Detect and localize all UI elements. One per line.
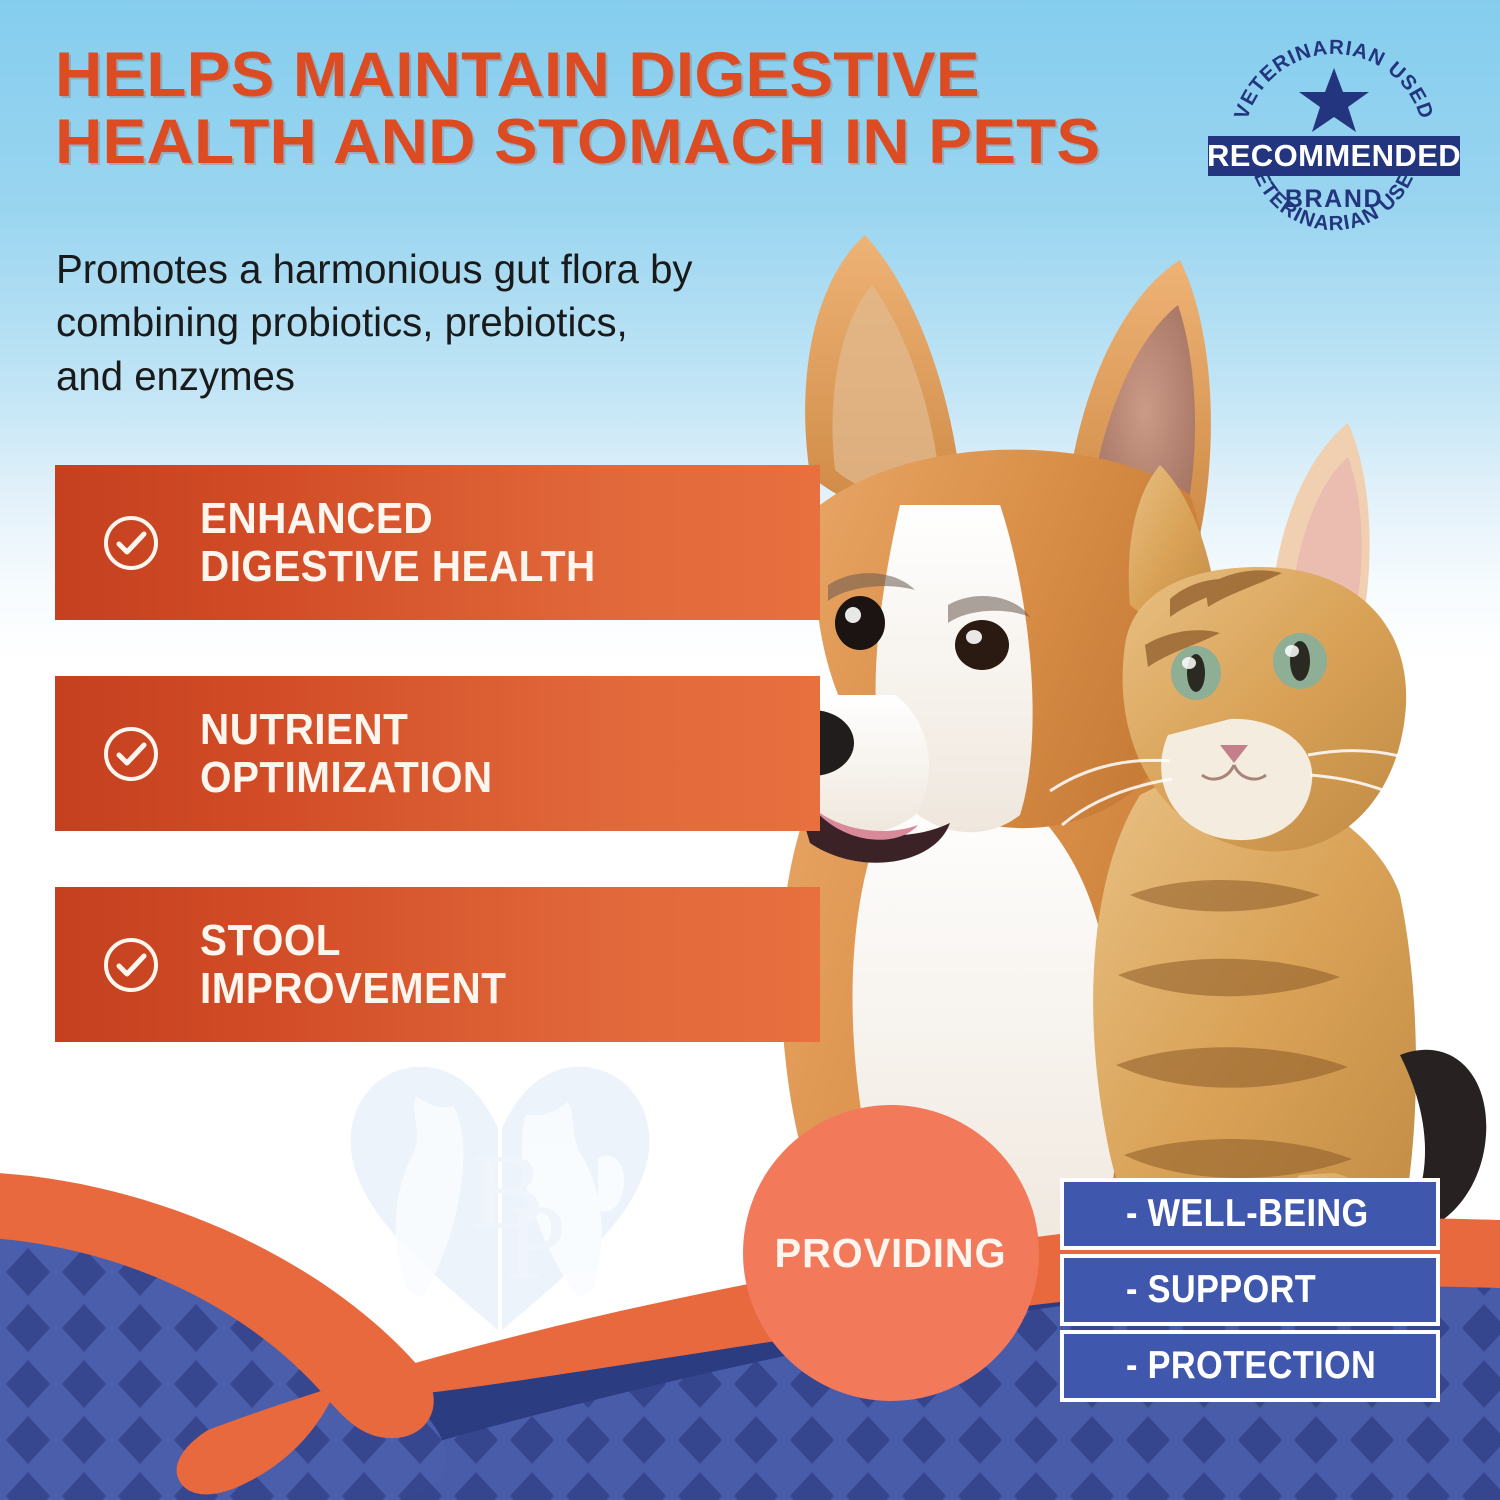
feature-label: NUTRIENT OPTIMIZATION [200, 706, 493, 800]
corgi-and-cat-photo [700, 175, 1500, 1275]
providing-label: PROVIDING [775, 1230, 1007, 1277]
subheading-text: Promotes a harmonious gut flora by combi… [56, 243, 703, 403]
vet-recommended-badge: VETERINARIAN USED VETERINARIAN USED RECO… [1208, 32, 1460, 232]
feature-bar-enhanced-digestive-health[interactable]: ENHANCED DIGESTIVE HEALTH [55, 465, 820, 620]
headline-line-1: HELPS MAINTAIN DIGESTIVE [55, 42, 1209, 109]
badge-subtitle: BRAND [1285, 185, 1383, 213]
page-title: HELPS MAINTAIN DIGESTIVE HEALTH AND STOM… [55, 42, 1209, 177]
benefit-label: - PROTECTION [1126, 1344, 1376, 1388]
benefit-label: - WELL-BEING [1126, 1192, 1369, 1236]
badge-banner-label: RECOMMENDED [1208, 138, 1460, 173]
benefit-bar-support[interactable]: - SUPPORT [1060, 1254, 1440, 1326]
watermark-letter-p: P [506, 1183, 566, 1302]
cat-illustration [1050, 423, 1486, 1275]
check-circle-icon [102, 514, 160, 572]
check-circle-icon [102, 936, 160, 994]
providing-badge[interactable]: PROVIDING [743, 1105, 1039, 1401]
promo-banner: HELPS MAINTAIN DIGESTIVE HEALTH AND STOM… [0, 0, 1500, 1500]
feature-label: ENHANCED DIGESTIVE HEALTH [200, 495, 596, 589]
feature-bar-stool-improvement[interactable]: STOOL IMPROVEMENT [55, 887, 820, 1042]
star-icon [1299, 68, 1369, 132]
brand-watermark-logo: B P [330, 1040, 670, 1340]
benefit-label: - SUPPORT [1126, 1268, 1316, 1312]
feature-bar-nutrient-optimization[interactable]: NUTRIENT OPTIMIZATION [55, 676, 820, 831]
headline-line-2: HEALTH AND STOMACH IN PETS [55, 109, 1209, 176]
feature-label: STOOL IMPROVEMENT [200, 917, 506, 1011]
benefit-bar-well-being[interactable]: - WELL-BEING [1060, 1178, 1440, 1250]
benefit-bar-protection[interactable]: - PROTECTION [1060, 1330, 1440, 1402]
check-circle-icon [102, 725, 160, 783]
